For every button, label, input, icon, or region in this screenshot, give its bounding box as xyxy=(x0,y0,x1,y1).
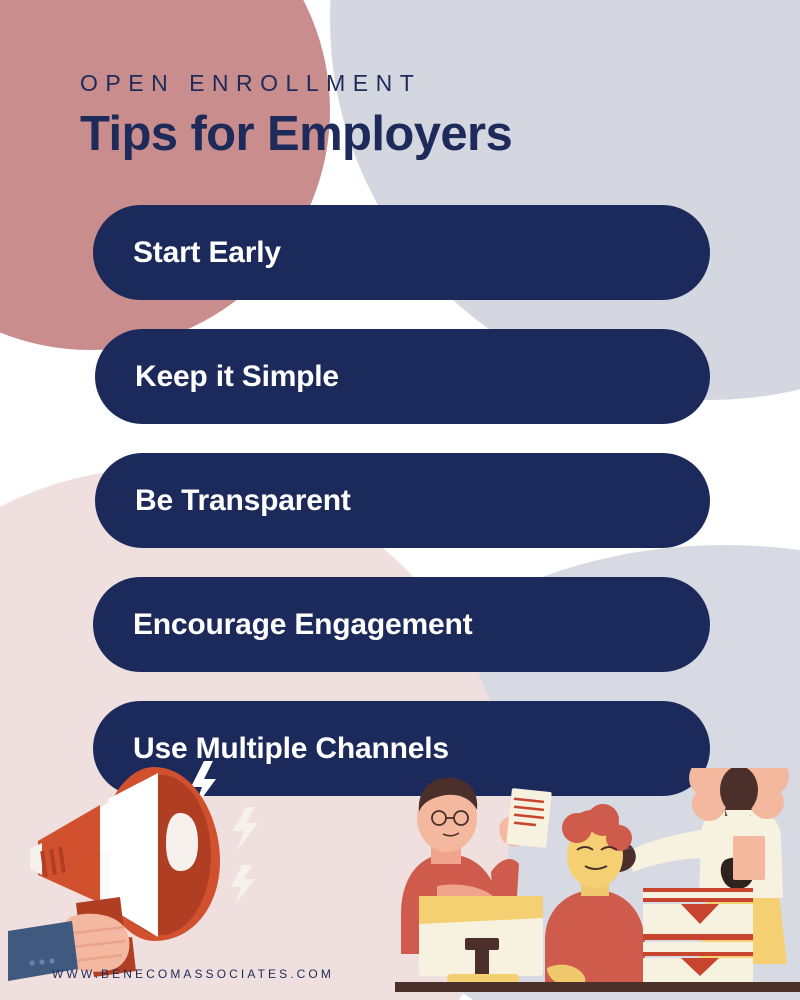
desk-surface xyxy=(395,982,800,992)
megaphone-handle xyxy=(30,805,100,903)
document-held xyxy=(506,788,552,848)
tip-pill-2[interactable]: Keep it Simple xyxy=(95,329,710,424)
tip-pill-1[interactable]: Start Early xyxy=(93,205,710,300)
infographic-canvas: OPEN ENROLLMENT Tips for Employers Start… xyxy=(0,0,800,1000)
eyebrow-text: OPEN ENROLLMENT xyxy=(80,72,512,95)
computer-monitor xyxy=(419,896,543,990)
people-meeting-illustration xyxy=(395,768,800,1000)
tip-pill-3[interactable]: Be Transparent xyxy=(95,453,710,548)
website-url: WWW.BENECOMASSOCIATES.COM xyxy=(52,967,334,981)
header: OPEN ENROLLMENT Tips for Employers xyxy=(80,72,512,162)
tip-label-4: Encourage Engagement xyxy=(133,608,472,642)
tip-label-3: Be Transparent xyxy=(135,484,351,518)
page-title: Tips for Employers xyxy=(80,107,512,162)
tip-label-1: Start Early xyxy=(133,236,281,270)
tip-label-2: Keep it Simple xyxy=(135,360,339,394)
person-center xyxy=(545,804,645,988)
tip-pill-4[interactable]: Encourage Engagement xyxy=(93,577,710,672)
megaphone-icon xyxy=(8,755,298,985)
